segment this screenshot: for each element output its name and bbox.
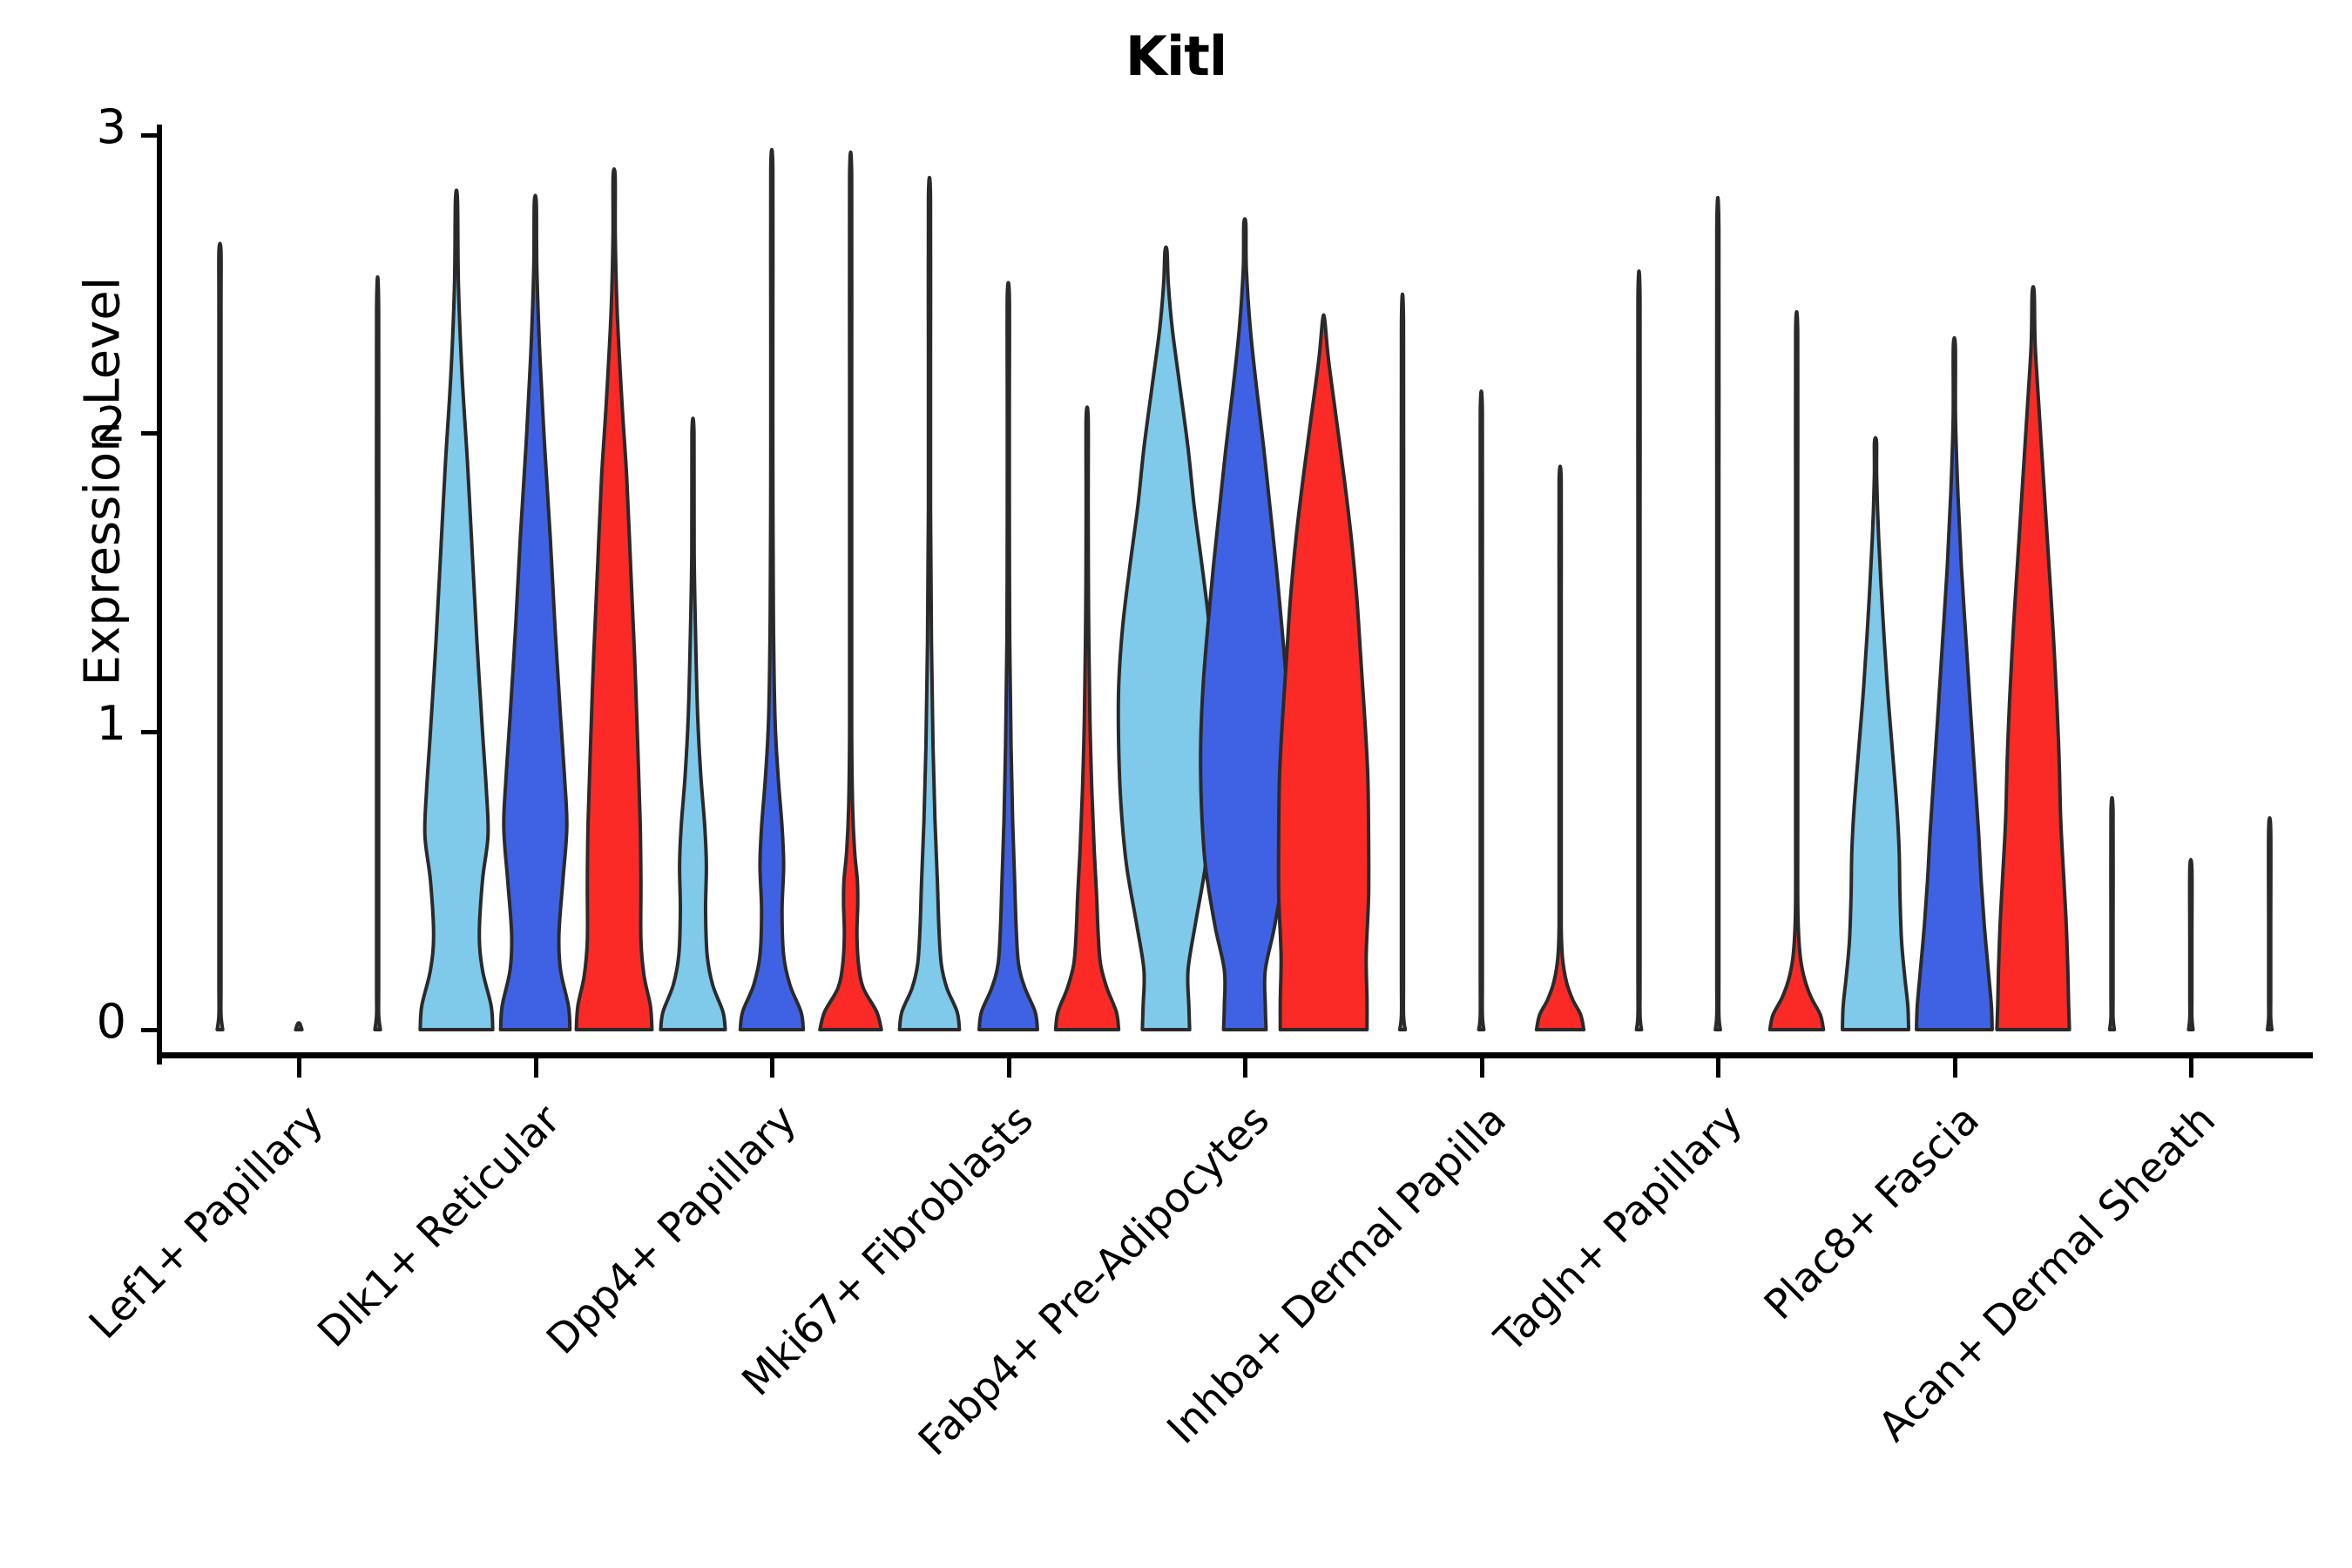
violin-group	[1637, 198, 1824, 1030]
x-axis-tick	[297, 1058, 301, 1078]
violin-shape[interactable]	[501, 195, 571, 1030]
violin-shape[interactable]	[1715, 198, 1720, 1030]
violin-shape[interactable]	[1770, 312, 1824, 1030]
violin-shape[interactable]	[1997, 287, 2069, 1030]
violin-shape[interactable]	[1119, 247, 1214, 1030]
violin-shape[interactable]	[577, 169, 652, 1030]
violin-shape[interactable]	[1479, 391, 1484, 1030]
x-axis-tick	[1716, 1058, 1720, 1078]
violin-shape[interactable]	[1200, 219, 1289, 1030]
x-axis-tick	[770, 1058, 774, 1078]
x-axis-tick	[1480, 1058, 1484, 1078]
violin-group	[1119, 219, 1369, 1030]
violin-shape[interactable]	[1916, 338, 1992, 1030]
violin-shape[interactable]	[900, 178, 960, 1030]
violin-shape[interactable]	[2110, 798, 2114, 1030]
violin-shape[interactable]	[740, 150, 803, 1030]
x-axis-tick	[2189, 1058, 2193, 1078]
violin-shape[interactable]	[1537, 466, 1584, 1030]
y-axis-tick	[141, 730, 157, 734]
violin-group	[420, 169, 652, 1030]
y-axis-tick	[141, 431, 157, 436]
violin-plot-figure: Kitl Expression Level 0123Lef1+ Papillar…	[0, 0, 2352, 1568]
x-axis-tick	[1243, 1058, 1247, 1078]
violin-shape[interactable]	[660, 418, 725, 1030]
y-axis-spine	[157, 125, 162, 1064]
y-axis-tick	[141, 1028, 157, 1032]
x-axis-spine	[157, 1052, 2313, 1058]
violin-shape[interactable]	[1056, 407, 1119, 1030]
violin-group	[1400, 294, 1584, 1030]
violin-shape[interactable]	[1637, 271, 1642, 1030]
violin-shape[interactable]	[217, 244, 222, 1030]
violin-shape[interactable]	[2268, 818, 2272, 1030]
violin-shape[interactable]	[375, 277, 380, 1030]
violin-shape[interactable]	[979, 282, 1037, 1030]
violin-group	[900, 178, 1119, 1030]
violin-group	[217, 244, 380, 1030]
violin-shape[interactable]	[1400, 294, 1405, 1030]
violin-shape[interactable]	[295, 1023, 301, 1030]
x-axis-tick	[1953, 1058, 1957, 1078]
violin-shape[interactable]	[420, 190, 492, 1030]
violin-shape[interactable]	[1279, 315, 1369, 1030]
violin-shape[interactable]	[2188, 860, 2193, 1030]
y-axis-tick-label: 1	[17, 700, 126, 747]
violin-group	[1842, 287, 2070, 1030]
violin-shape[interactable]	[1842, 437, 1909, 1030]
y-axis-tick-label: 2	[17, 402, 126, 449]
y-axis-tick	[141, 133, 157, 138]
violin-group	[660, 150, 881, 1030]
violin-shape[interactable]	[820, 152, 882, 1030]
violin-group	[2110, 798, 2272, 1030]
x-axis-tick	[534, 1058, 538, 1078]
y-axis-tick-label: 0	[17, 998, 126, 1045]
y-axis-tick-label: 3	[17, 104, 126, 151]
x-axis-tick	[1007, 1058, 1011, 1078]
